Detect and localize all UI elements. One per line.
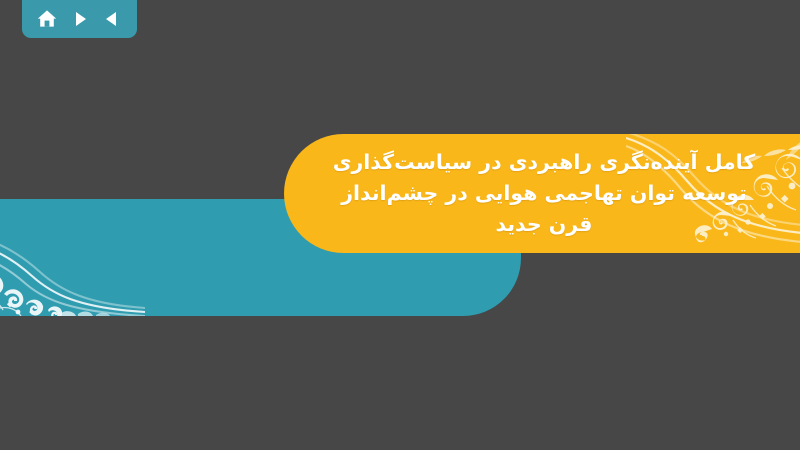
- next-slide-button[interactable]: [67, 6, 93, 32]
- slide-viewer: کامل آینده‌نگری راهبردی در سیاست‌گذاری ت…: [0, 0, 800, 450]
- previous-slide-button[interactable]: [99, 6, 125, 32]
- slide-title: کامل آینده‌نگری راهبردی در سیاست‌گذاری ت…: [284, 147, 800, 240]
- arabesque-corner-ornament-teal: [0, 224, 145, 316]
- home-button[interactable]: [34, 6, 60, 32]
- triangle-left-icon: [102, 9, 122, 29]
- slide-navigation-bar: [22, 0, 137, 38]
- slide-title-panel: کامل آینده‌نگری راهبردی در سیاست‌گذاری ت…: [284, 134, 800, 253]
- triangle-right-icon: [70, 9, 90, 29]
- home-icon: [36, 8, 58, 30]
